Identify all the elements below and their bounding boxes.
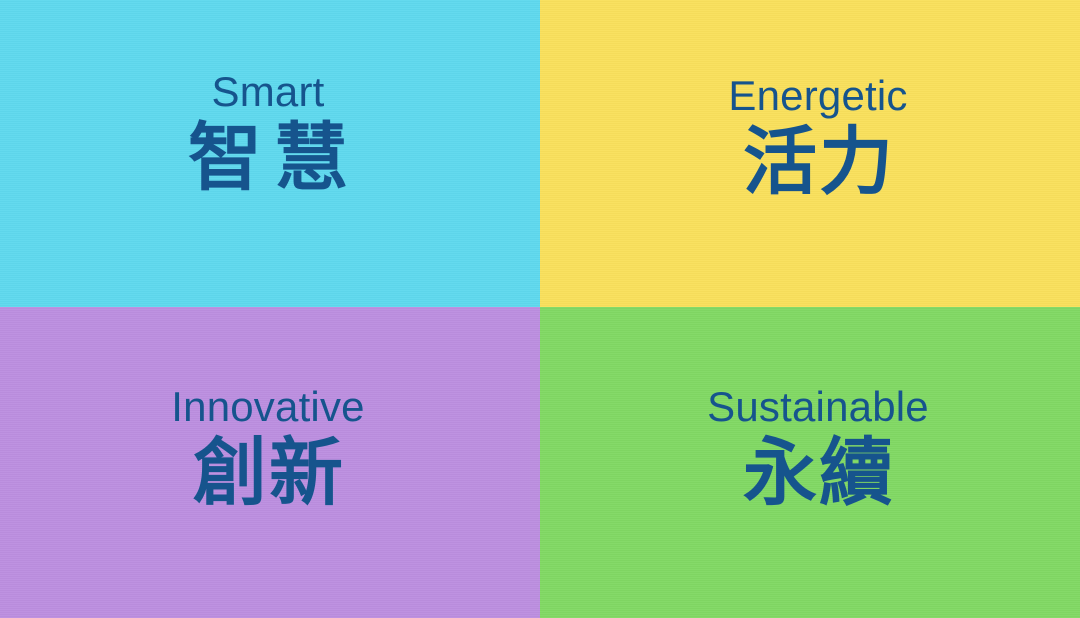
label-stack-sustainable: Sustainable 永續 — [707, 385, 929, 513]
brand-values-board: Smart 智慧 Energetic 活力 Innovative 創新 Sust… — [0, 0, 1080, 618]
chinese-label-energetic: 活力 — [741, 122, 895, 202]
chinese-label-sustainable: 永續 — [741, 433, 895, 513]
quadrant-sustainable: Sustainable 永續 — [540, 307, 1080, 618]
label-stack-energetic: Energetic 活力 — [728, 74, 907, 202]
quadrant-smart: Smart 智慧 — [0, 0, 540, 307]
english-label-innovative: Innovative — [171, 385, 364, 429]
english-label-smart: Smart — [211, 70, 324, 114]
chinese-label-smart: 智慧 — [176, 118, 360, 198]
quadrant-energetic: Energetic 活力 — [540, 0, 1080, 307]
label-stack-innovative: Innovative 創新 — [171, 385, 364, 513]
label-stack-smart: Smart 智慧 — [176, 70, 360, 198]
english-label-sustainable: Sustainable — [707, 385, 929, 429]
english-label-energetic: Energetic — [728, 74, 907, 118]
quadrant-innovative: Innovative 創新 — [0, 307, 540, 618]
chinese-label-innovative: 創新 — [191, 433, 345, 513]
